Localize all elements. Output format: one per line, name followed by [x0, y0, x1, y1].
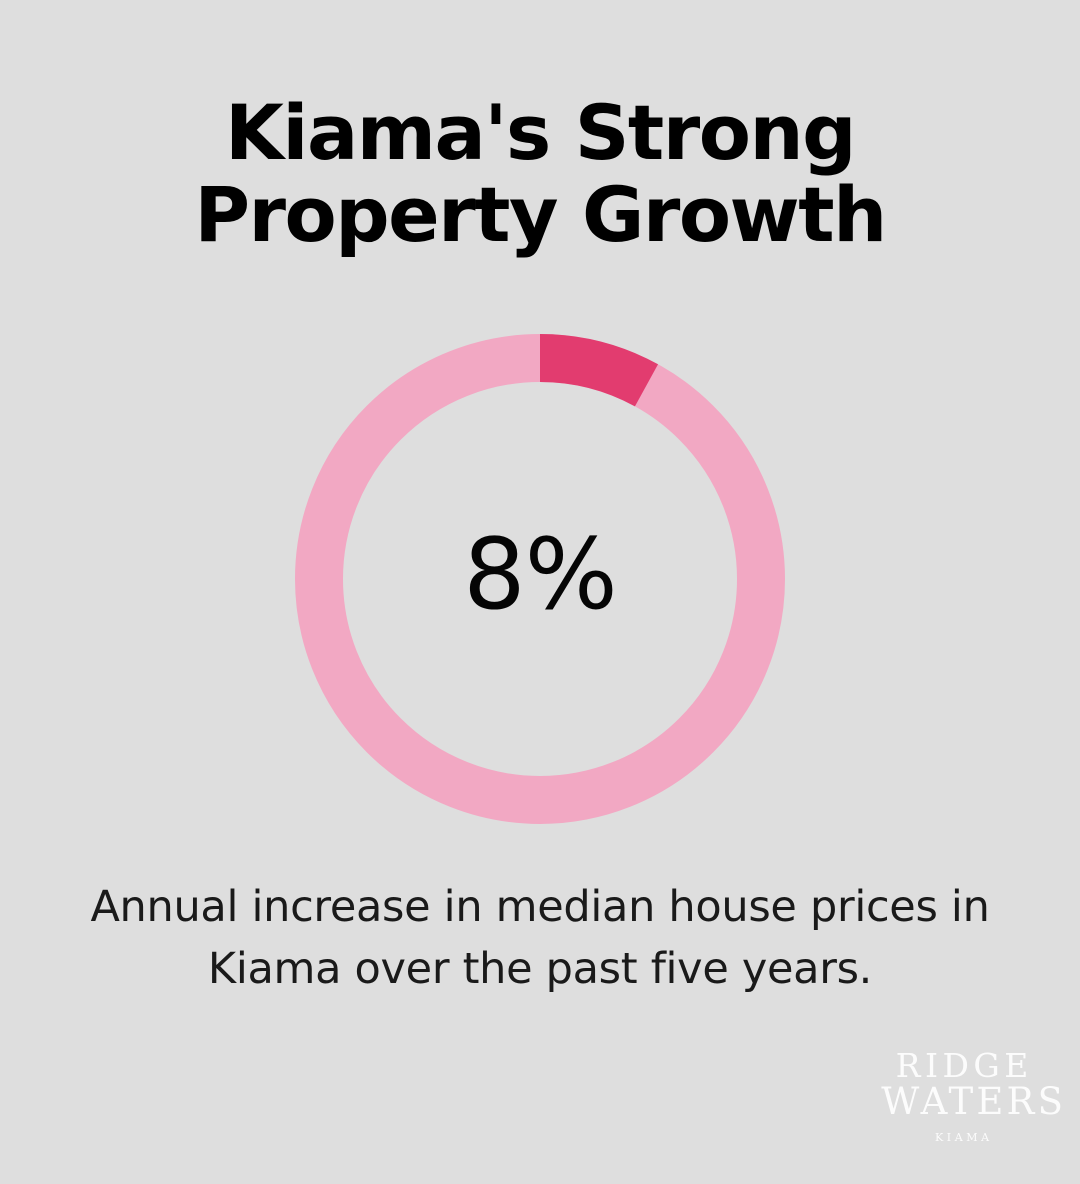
infographic-canvas: Kiama's Strong Property Growth 8% Annual… [0, 0, 1080, 1184]
title-block: Kiama's Strong Property Growth [0, 92, 1080, 256]
brand-logo-location: KIAMA [878, 1131, 1046, 1144]
caption-block: Annual increase in median house prices i… [0, 876, 1080, 1001]
donut-center-value-text: 8% [463, 526, 616, 624]
caption-text: Annual increase in median house prices i… [0, 876, 1080, 1001]
donut-center-value: 8% [295, 334, 785, 824]
brand-logo-line2: WATERS [878, 1083, 1046, 1122]
page-title: Kiama's Strong Property Growth [0, 92, 1080, 256]
brand-logo: RIDGE WATERS KIAMA [878, 1049, 1046, 1144]
brand-logo-line1: RIDGE [878, 1049, 1046, 1083]
donut-chart: 8% [295, 334, 785, 824]
